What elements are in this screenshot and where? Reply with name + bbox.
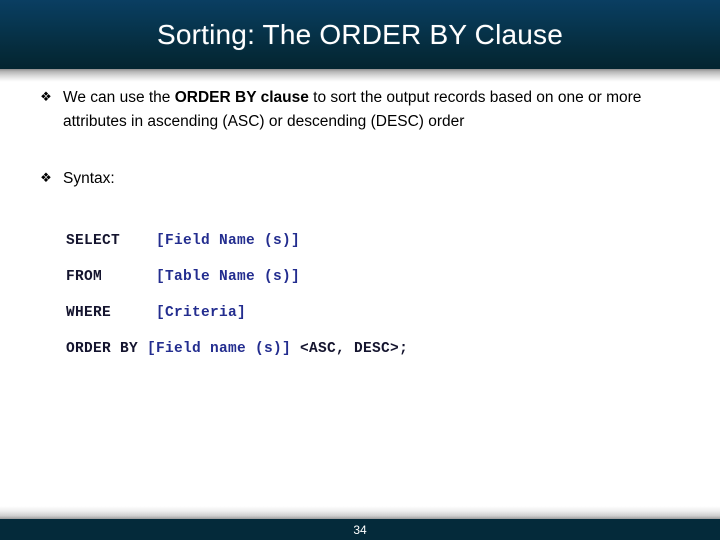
sql-argument: [Table Name (s)] (156, 269, 300, 285)
bullet-item-2-text: Syntax: (63, 167, 688, 191)
bullet-diamond-icon: ❖ (38, 169, 54, 187)
bullet-diamond-icon: ❖ (38, 88, 54, 106)
slide-canvas: Sorting: The ORDER BY Clause ❖ We can us… (0, 0, 720, 540)
bullet-item-1-text: We can use the ORDER BY clause to sort t… (63, 86, 688, 134)
bullet-1-emphasis: ORDER BY clause (175, 89, 309, 106)
page-number: 34 (0, 519, 720, 540)
sql-syntax-line: FROM [Table Name (s)] (66, 268, 626, 304)
header-divider (0, 69, 720, 82)
sql-syntax-line: ORDER BY [Field name (s)] <ASC, DESC>; (66, 340, 626, 376)
sql-keyword: ORDER BY (66, 341, 147, 357)
page-title: Sorting: The ORDER BY Clause (0, 0, 720, 69)
bullet-item-1: ❖ We can use the ORDER BY clause to sort… (0, 86, 720, 134)
bullet-item-2: ❖ Syntax: (0, 167, 720, 191)
sql-keyword: FROM (66, 269, 156, 285)
sql-argument: [Field Name (s)] (156, 233, 300, 249)
sql-syntax-line: WHERE [Criteria] (66, 304, 626, 340)
sql-argument: [Criteria] (156, 305, 246, 321)
bullet-1-segment-a: We can use the (63, 89, 175, 106)
sql-syntax-line: SELECT [Field Name (s)] (66, 232, 626, 268)
sql-syntax-block: SELECT [Field Name (s)] FROM [Table Name… (66, 232, 626, 376)
bullet-spacer (0, 134, 720, 167)
sql-option: <ASC, DESC>; (291, 341, 408, 357)
sql-keyword: SELECT (66, 233, 156, 249)
sql-keyword: WHERE (66, 305, 156, 321)
sql-argument: [Field name (s)] (147, 341, 291, 357)
slide-body: ❖ We can use the ORDER BY clause to sort… (0, 86, 720, 191)
footer-divider (0, 506, 720, 519)
